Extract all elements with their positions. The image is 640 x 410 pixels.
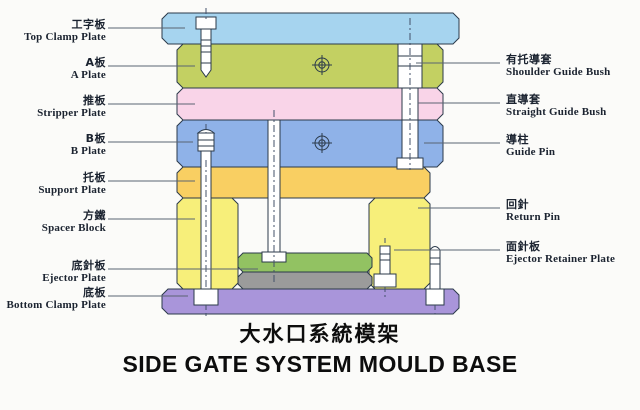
label-cn: 底針板 [42,260,106,272]
label-cn: 托板 [38,172,106,184]
label-en: Bottom Clamp Plate [6,299,106,312]
tie-bolt-head [198,133,214,151]
label-ejector-retainer-plate: 面針板 Ejector Retainer Plate [506,241,615,266]
caption-chinese: 大水口系統模架 [0,318,640,348]
diagram-caption: 大水口系統模架 SIDE GATE SYSTEM MOULD BASE [0,318,640,378]
bottom-bolt-dome [430,247,440,251]
label-shoulder-guide-bush: 有托導套 Shoulder Guide Bush [506,54,610,79]
return-pin-collar [374,274,396,287]
caption-english: SIDE GATE SYSTEM MOULD BASE [0,351,640,378]
label-bottom-clamp-plate: 底板 Bottom Clamp Plate [6,287,106,312]
label-en: Support Plate [38,184,106,197]
label-support-plate: 托板 Support Plate [38,172,106,197]
label-top-clamp-plate: 工字板 Top Clamp Plate [24,19,106,44]
label-cn: 工字板 [24,19,106,31]
label-cn: 回針 [506,199,560,211]
label-cn: 直導套 [506,94,606,106]
label-en: Spacer Block [42,222,106,235]
label-en: B Plate [71,145,106,158]
label-guide-pin: 導柱 Guide Pin [506,134,555,159]
label-cn: 導柱 [506,134,555,146]
label-en: Ejector Retainer Plate [506,253,615,266]
label-cn: 推板 [37,95,106,107]
label-return-pin: 回針 Return Pin [506,199,560,224]
label-en: A Plate [71,69,106,82]
label-cn: A板 [71,57,106,69]
label-en: Stripper Plate [37,107,106,120]
label-spacer-block: 方鐵 Spacer Block [42,210,106,235]
label-b-plate: B板 B Plate [71,133,106,158]
label-en: Top Clamp Plate [24,31,106,44]
label-en: Return Pin [506,211,560,224]
label-straight-guide-bush: 直導套 Straight Guide Bush [506,94,606,119]
label-cn: 有托導套 [506,54,610,66]
mould-base-diagram: 工字板 Top Clamp Plate A板 A Plate 推板 Stripp… [0,0,640,410]
label-en: Ejector Plate [42,272,106,285]
label-a-plate: A板 A Plate [71,57,106,82]
label-stripper-plate: 推板 Stripper Plate [37,95,106,120]
bottom-bolt-nut [426,289,444,305]
label-cn: B板 [71,133,106,145]
label-cn: 底板 [6,287,106,299]
label-en: Shoulder Guide Bush [506,66,610,79]
tie-bolt-nut [194,289,218,305]
label-ejector-plate: 底針板 Ejector Plate [42,260,106,285]
plate-ejector-retainer-plate [238,253,372,272]
plate-ejector-plate [238,272,372,289]
label-cn: 面針板 [506,241,615,253]
label-en: Guide Pin [506,146,555,159]
bottom-bolt-shank [430,250,440,289]
label-cn: 方鐵 [42,210,106,222]
plate-support-plate [177,167,430,198]
label-en: Straight Guide Bush [506,106,606,119]
